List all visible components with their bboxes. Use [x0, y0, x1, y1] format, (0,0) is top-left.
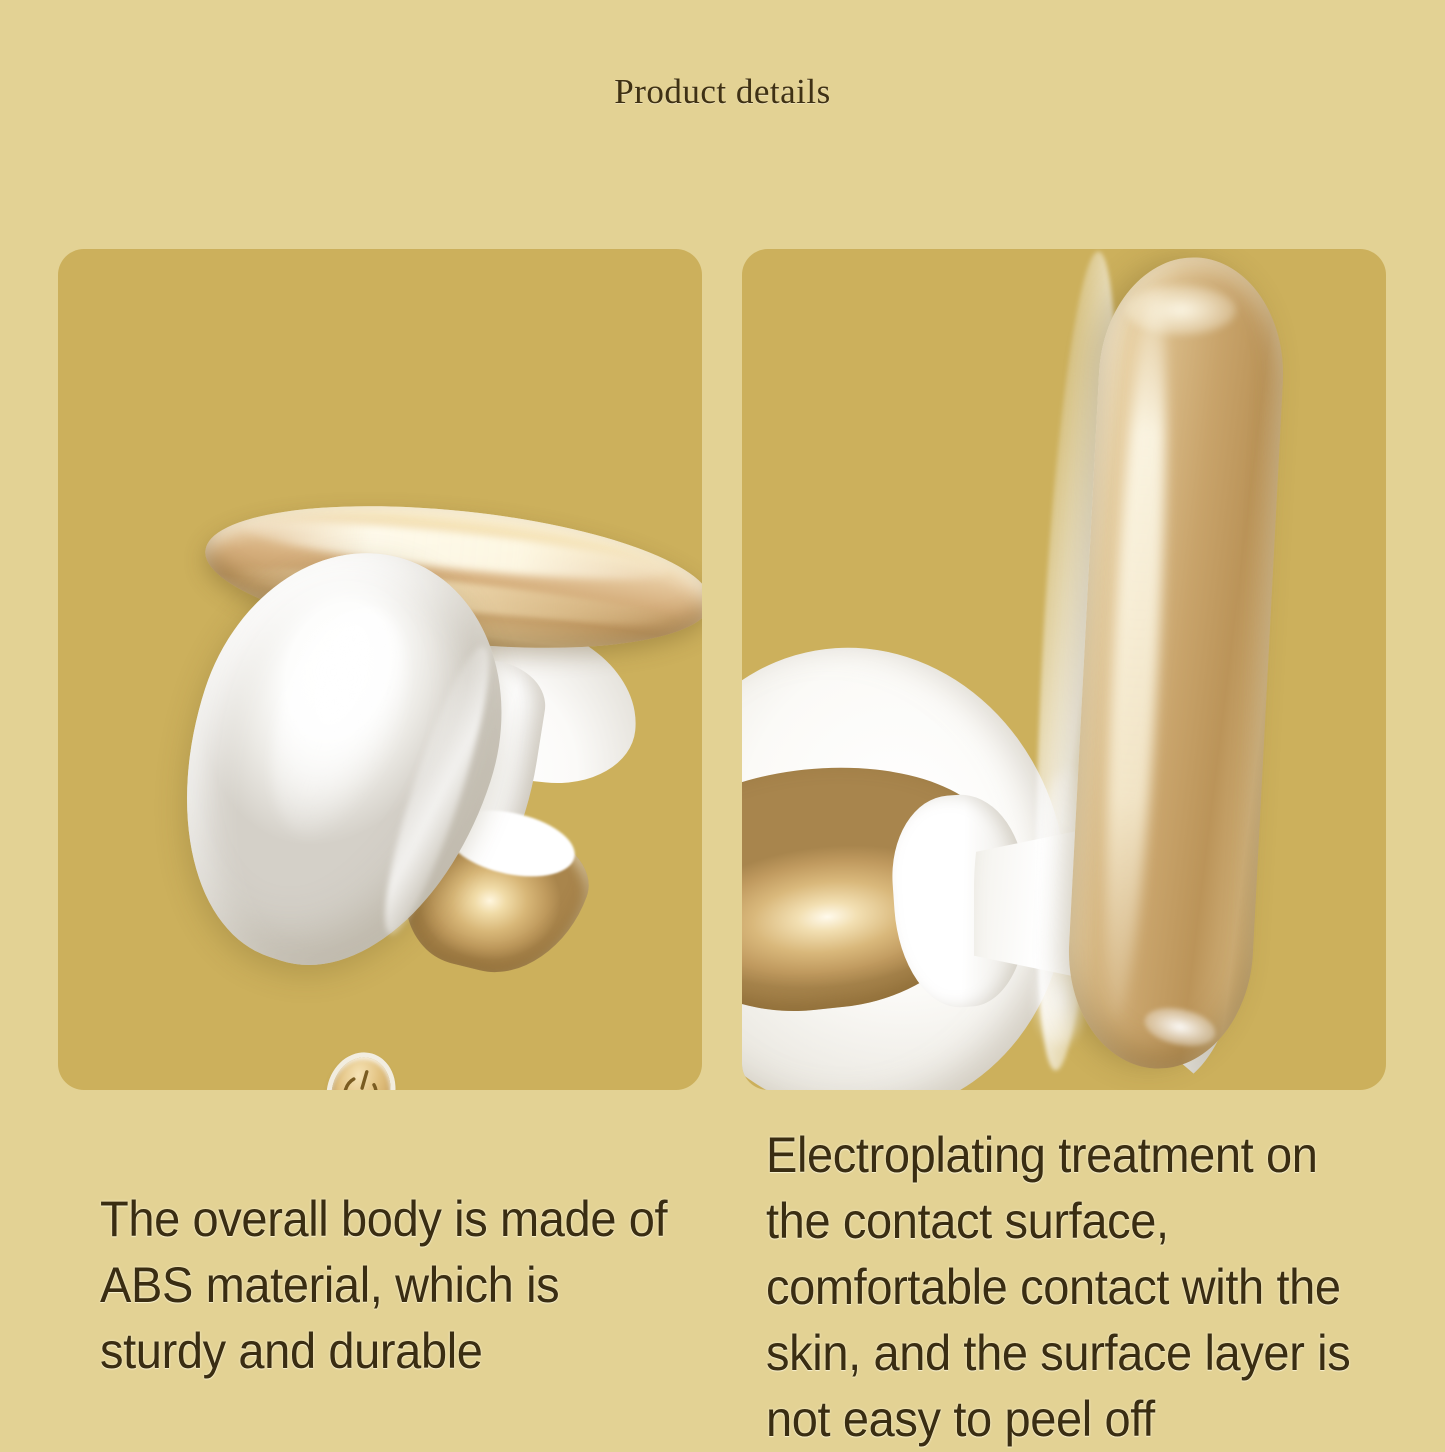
product-image-panel-right[interactable] [742, 249, 1386, 1090]
device-contact-top-gloss [1126, 285, 1236, 335]
product-image-panel-left[interactable] [58, 249, 702, 1090]
power-icon [323, 1050, 398, 1090]
device-contact-highlight [1095, 287, 1177, 1019]
power-button[interactable] [323, 1050, 398, 1090]
page-title: Product details [0, 72, 1445, 112]
caption-right: Electroplating treatment on the contact … [766, 1122, 1377, 1452]
caption-left: The overall body is made of ABS material… [100, 1186, 683, 1384]
device-illustration-full [58, 249, 702, 1090]
device-illustration-closeup [742, 249, 1386, 1090]
